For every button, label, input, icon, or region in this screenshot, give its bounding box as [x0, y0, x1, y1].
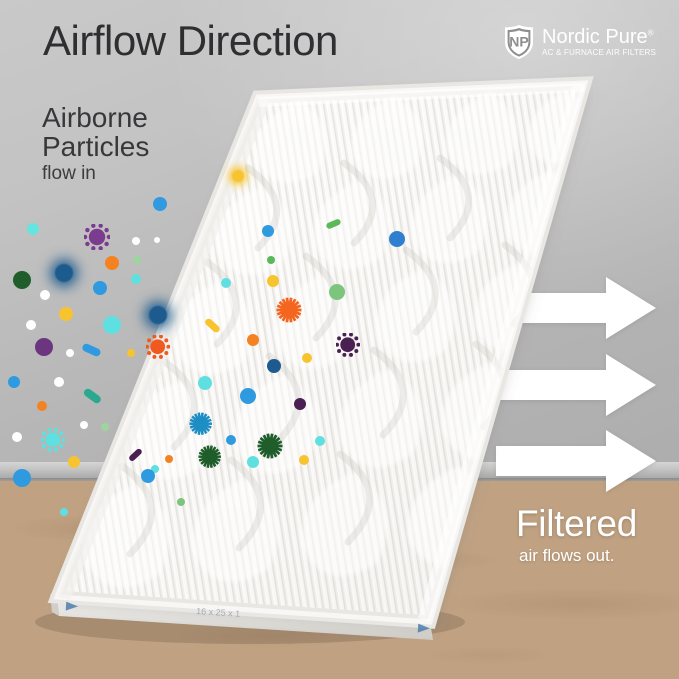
particle-dot [247, 334, 259, 346]
particle-dot [13, 271, 31, 289]
particle-dot [302, 353, 312, 363]
particle-dot [232, 170, 244, 182]
particle-dot [40, 290, 50, 300]
particle-virus [276, 297, 302, 323]
particle-virus [257, 433, 283, 459]
particle-dot [60, 508, 68, 516]
particle-dot [221, 278, 231, 288]
particle-dot [68, 456, 80, 468]
shield-initials: NP [509, 34, 528, 50]
particle-dot [247, 456, 259, 468]
particle-dot [103, 316, 121, 334]
particle-germ [146, 335, 169, 358]
particle-dot [26, 320, 36, 330]
particle-dot [59, 307, 73, 321]
brand-name: Nordic Pure® [542, 27, 656, 47]
particle-dot [105, 256, 119, 270]
particle-virus [198, 445, 221, 468]
particle-dot [131, 274, 141, 284]
particle-dot [267, 275, 279, 287]
particle-dot [141, 469, 155, 483]
particle-germ [41, 428, 64, 451]
infographic-canvas: 16 x 25 x 1 Airflow Direction Airborne P… [0, 0, 679, 679]
particle-germ [336, 333, 359, 356]
particle-dot [35, 338, 53, 356]
particle-dot [153, 197, 167, 211]
particle-dot [132, 237, 140, 245]
particle-dot [198, 376, 212, 390]
particle-dot [315, 436, 325, 446]
brand-text: Nordic Pure® AC & FURNACE AIR FILTERS [542, 27, 656, 57]
airborne-line-2: Particles [42, 133, 149, 162]
brand-logo: NP Nordic Pure® AC & FURNACE AIR FILTERS [503, 24, 656, 60]
page-title: Airflow Direction [43, 17, 338, 65]
particle-dot [177, 498, 185, 506]
flow-in-label: flow in [42, 163, 96, 185]
particle-dot [267, 359, 281, 373]
particle-dot [262, 225, 274, 237]
particle-dot [133, 256, 141, 264]
shield-icon: NP [503, 24, 535, 60]
particle-dot [149, 306, 167, 324]
particle-dot [54, 377, 64, 387]
airborne-line-1: Airborne [42, 104, 149, 133]
particle-dot [66, 349, 74, 357]
brand-name-text: Nordic Pure [542, 26, 648, 48]
particle-dot [55, 264, 73, 282]
registered-mark: ® [648, 28, 654, 37]
particle-dot [389, 231, 405, 247]
particle-dot [101, 423, 109, 431]
particle-dot [240, 388, 256, 404]
particle-dot [329, 284, 345, 300]
brand-tagline: AC & FURNACE AIR FILTERS [542, 48, 656, 57]
particle-germ [84, 224, 110, 250]
particle-dot [8, 376, 20, 388]
particle-dot [127, 349, 135, 357]
particle-dot [13, 469, 31, 487]
particle-dot [267, 256, 275, 264]
particle-dot [226, 435, 236, 445]
particle-dot [27, 223, 39, 235]
particle-dot [154, 237, 160, 243]
particle-dot [37, 401, 47, 411]
particle-dot [165, 455, 173, 463]
air-flows-out-label: air flows out. [519, 546, 614, 566]
particle-dot [299, 455, 309, 465]
particle-dot [80, 421, 88, 429]
particle-virus [189, 412, 212, 435]
particle-dot [294, 398, 306, 410]
particle-dot [93, 281, 107, 295]
particle-dot [12, 432, 22, 442]
filtered-label: Filtered [516, 503, 637, 545]
airborne-particles-label: Airborne Particles [42, 104, 149, 162]
